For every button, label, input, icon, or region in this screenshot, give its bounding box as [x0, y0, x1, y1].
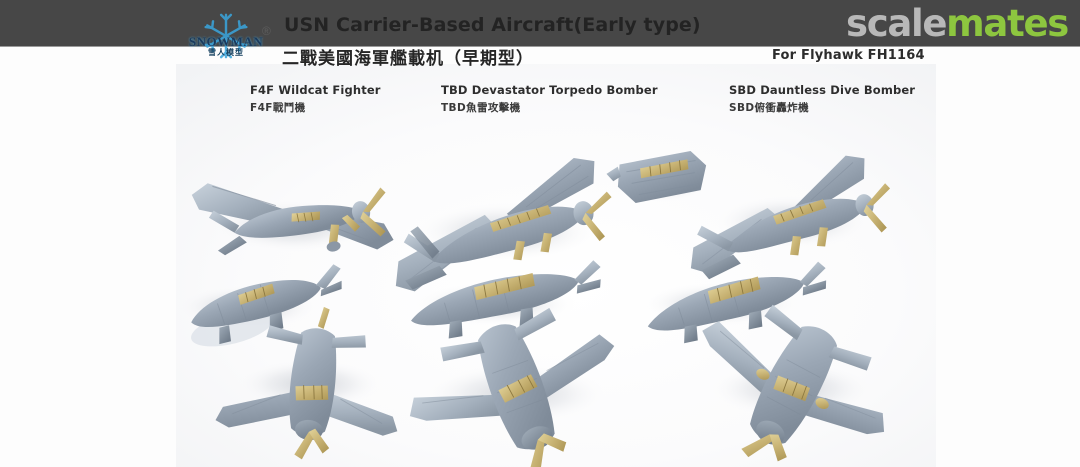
brand-logo: SNOWMAN 雪人模型 — [176, 10, 276, 62]
model-sbd-dauntless-top-view — [676, 149, 900, 282]
product-caption-tbd: TBD Devastator Torpedo Bomber TBD魚雷攻擊機 — [441, 83, 658, 115]
product-name-en-f4f: F4F Wildcat Fighter — [250, 83, 381, 97]
product-name-cn-tbd: TBD魚雷攻擊機 — [441, 100, 658, 115]
watermark-text-mates: mates — [946, 2, 1068, 45]
model-f4f-wildcat-top-view — [190, 148, 397, 285]
product-caption-sbd: SBD Dauntless Dive Bomber SBD俯衝轟炸機 — [729, 83, 915, 115]
watermark-text-scale: scale — [846, 2, 946, 45]
product-name-en-sbd: SBD Dauntless Dive Bomber — [729, 83, 915, 97]
model-tbd-wing-detail-part — [605, 150, 709, 206]
product-image-page: SNOWMAN 雪人模型 ® USN Carrier-Based Aircraf… — [0, 0, 1080, 467]
page-title-en: USN Carrier-Based Aircraft(Early type) — [284, 14, 701, 36]
product-photo-area — [176, 64, 936, 467]
product-name-cn-f4f: F4F戰鬥機 — [250, 100, 381, 115]
registered-trademark-mark: ® — [262, 24, 271, 38]
page-title-cn: 二戰美國海軍艦載机（早期型） — [282, 44, 534, 69]
product-caption-f4f: F4F Wildcat Fighter F4F戰鬥機 — [250, 83, 381, 115]
product-sheet: SNOWMAN 雪人模型 ® USN Carrier-Based Aircraf… — [0, 0, 1080, 467]
kit-reference: For Flyhawk FH1164 — [772, 48, 925, 63]
product-name-cn-sbd: SBD俯衝轟炸機 — [729, 100, 915, 115]
brand-name-cn: 雪人模型 — [176, 47, 276, 58]
scalemates-watermark: scalemates — [846, 2, 1068, 46]
product-name-en-tbd: TBD Devastator Torpedo Bomber — [441, 83, 658, 97]
